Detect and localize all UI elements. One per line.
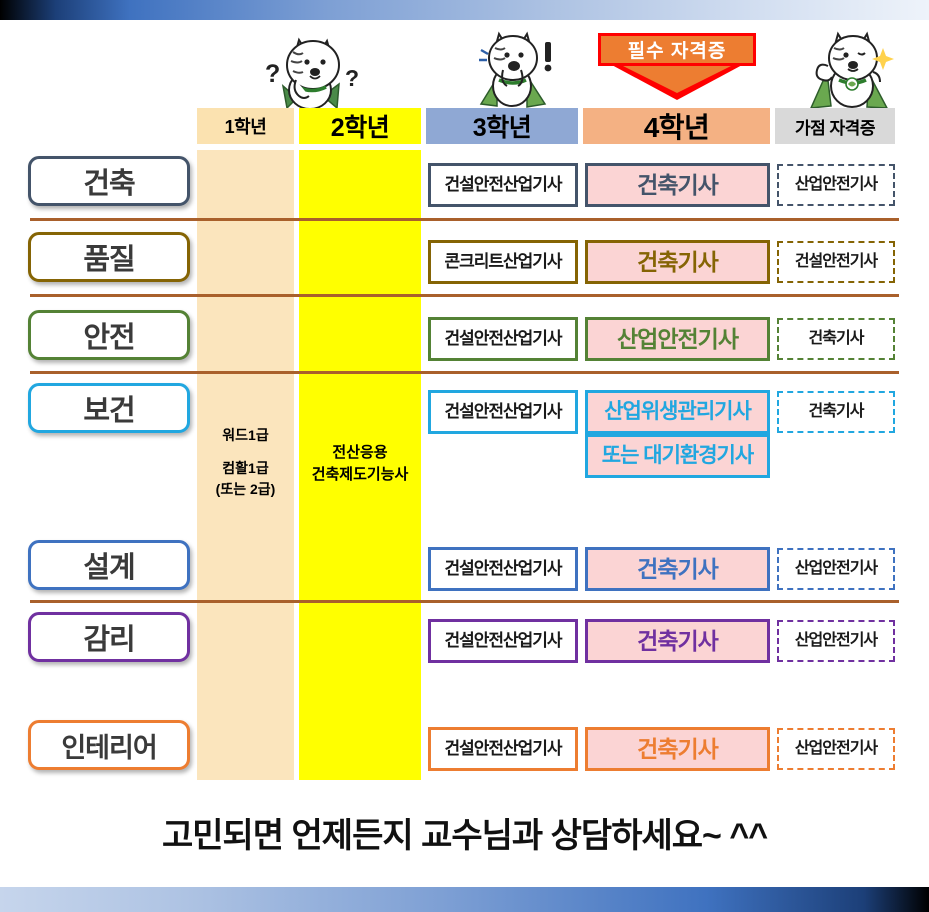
row-separator: [30, 218, 899, 221]
cert-year4-건축[interactable]: 건축기사: [585, 163, 770, 207]
cert-year4-인테리어[interactable]: 건축기사: [585, 727, 770, 771]
track-label-보건[interactable]: 보건: [28, 383, 190, 433]
track-label-품질[interactable]: 품질: [28, 232, 190, 282]
bottom-gradient-bar: [0, 887, 929, 912]
cert-bonus-감리[interactable]: 산업안전기사: [777, 620, 895, 662]
cert-year4-감리[interactable]: 건축기사: [585, 619, 770, 663]
cert-year3-인테리어[interactable]: 건설안전산업기사: [428, 727, 578, 771]
row-separator: [30, 371, 899, 374]
cert-year4-안전[interactable]: 산업안전기사: [585, 317, 770, 361]
cert-year3-품질[interactable]: 콘크리트산업기사: [428, 240, 578, 284]
cert-year3-설계[interactable]: 건설안전산업기사: [428, 547, 578, 591]
cert-year3-보건[interactable]: 건설안전산업기사: [428, 390, 578, 434]
header-bonus-cert: 가점 자격증: [775, 108, 895, 144]
footer-note: 고민되면 언제든지 교수님과 상담하세요~ ^^: [0, 808, 929, 857]
cert-year4-보건[interactable]: 산업위생관리기사: [585, 390, 770, 434]
cert-year3-안전[interactable]: 건설안전산업기사: [428, 317, 578, 361]
year2-line1: 전산응용: [299, 442, 421, 464]
cert-year3-건축[interactable]: 건설안전산업기사: [428, 163, 578, 207]
year2-content: 전산응용 건축제도기능사: [299, 442, 421, 486]
year1-line1: 워드1급: [197, 425, 294, 445]
svg-text:?: ?: [345, 65, 359, 91]
track-label-인테리어[interactable]: 인테리어: [28, 720, 190, 770]
slide-root: ? ? 필수: [0, 0, 929, 912]
track-label-안전[interactable]: 안전: [28, 310, 190, 360]
year1-line3: (또는 2급): [197, 479, 294, 499]
row-separator: [30, 294, 899, 297]
cert-year4-품질[interactable]: 건축기사: [585, 240, 770, 284]
year1-content: 워드1급 컴활1급 (또는 2급): [197, 425, 294, 499]
header-year2: 2학년: [299, 108, 421, 144]
cert-year3-감리[interactable]: 건설안전산업기사: [428, 619, 578, 663]
year1-line2: 컴활1급: [197, 458, 294, 478]
row-separator: [30, 600, 899, 603]
cert-year4-설계[interactable]: 건축기사: [585, 547, 770, 591]
tiger-exclaim-icon: [463, 20, 563, 110]
tiger-thumbsup-icon: [797, 20, 907, 112]
header-year3: 3학년: [426, 108, 578, 144]
svg-text:?: ?: [265, 60, 280, 88]
header-year1: 1학년: [197, 108, 294, 144]
tiger-question-icon: ? ?: [253, 24, 365, 110]
track-label-건축[interactable]: 건축: [28, 156, 190, 206]
cert-bonus-보건[interactable]: 건축기사: [777, 391, 895, 433]
header-year4: 4학년: [583, 108, 770, 144]
cert-bonus-인테리어[interactable]: 산업안전기사: [777, 728, 895, 770]
cert-year4-보건-alt[interactable]: 또는 대기환경기사: [585, 434, 770, 478]
year2-line2: 건축제도기능사: [299, 464, 421, 486]
cert-bonus-건축[interactable]: 산업안전기사: [777, 164, 895, 206]
track-label-설계[interactable]: 설계: [28, 540, 190, 590]
cert-bonus-설계[interactable]: 산업안전기사: [777, 548, 895, 590]
required-cert-banner: 필수 자격증: [598, 33, 756, 66]
track-label-감리[interactable]: 감리: [28, 612, 190, 662]
cert-bonus-안전[interactable]: 건축기사: [777, 318, 895, 360]
banner-arrow-fill: [617, 63, 737, 93]
top-gradient-bar: [0, 0, 929, 20]
cert-bonus-품질[interactable]: 건설안전기사: [777, 241, 895, 283]
